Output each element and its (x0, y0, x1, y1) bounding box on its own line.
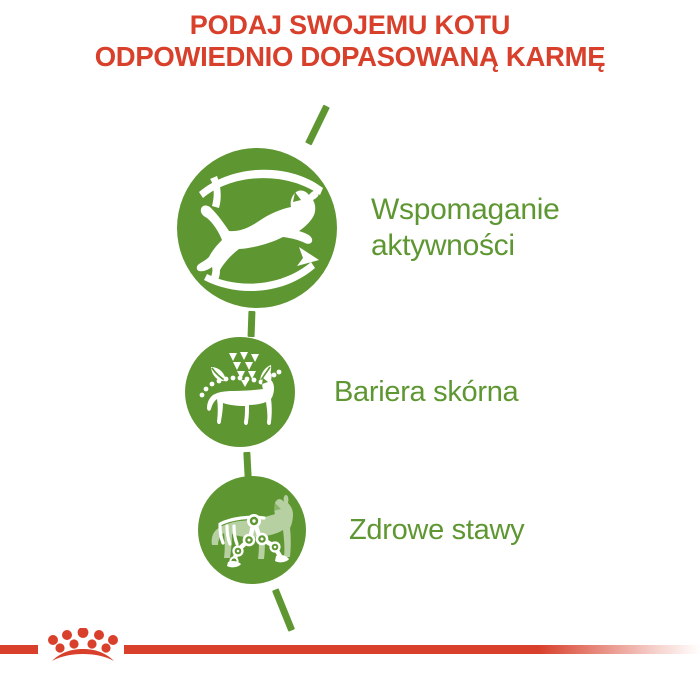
benefit-label-joints: Zdrowe stawy (349, 513, 524, 547)
cat-skin-barrier-icon (185, 337, 295, 447)
brand-bar-left-segment (0, 645, 38, 654)
headline-line-2: ODPOWIEDNIO DOPASOWANĄ KARMĘ (0, 41, 700, 72)
promo-banner: PODAJ SWOJEMU KOTU ODPOWIEDNIO DOPASOWAN… (0, 0, 700, 700)
connector-dash-between-2-3 (243, 452, 251, 478)
benefit-row-joints: Zdrowe stawy (198, 476, 524, 584)
jumping-cat-activity-icon (177, 148, 337, 308)
brand-bar-right-segment (124, 645, 700, 654)
benefit-label-activity: Wspomaganie aktywności (371, 192, 559, 264)
page-title: PODAJ SWOJEMU KOTU ODPOWIEDNIO DOPASOWAN… (0, 10, 700, 72)
benefit-row-skin-barrier: Bariera skórna (185, 337, 518, 447)
headline-line-1: PODAJ SWOJEMU KOTU (0, 10, 700, 41)
benefit-row-activity: Wspomaganie aktywności (177, 148, 559, 308)
benefit-label-skin-barrier: Bariera skórna (334, 375, 518, 409)
brand-bar (0, 624, 700, 664)
connector-dash-top (305, 105, 330, 146)
royal-canin-crown-logo (44, 628, 122, 664)
cat-joints-skeleton-icon (198, 476, 306, 584)
connector-dash-between-1-2 (248, 311, 256, 337)
